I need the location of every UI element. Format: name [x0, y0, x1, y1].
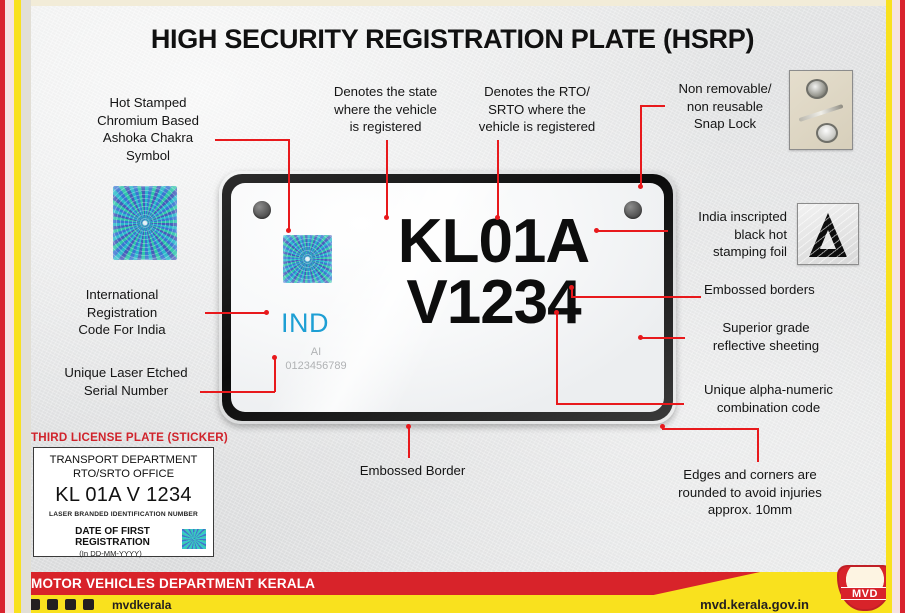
social-handle: mvdkerala — [112, 598, 171, 612]
annotation-hot-stamping-foil: India inscripted black hot stamping foil — [672, 208, 787, 261]
annotation-rounded-edges: Edges and corners are rounded to avoid i… — [650, 466, 850, 519]
frame-left-inner-stripe — [21, 0, 31, 613]
registration-number-line2: V1234 — [351, 272, 636, 333]
ind-country-code: IND — [281, 308, 329, 339]
annotation-international-code: International Registration Code For Indi… — [42, 286, 202, 339]
snap-lock-pin-icon — [799, 104, 844, 122]
leader-line — [757, 428, 759, 462]
third-license-plate-heading: THIRD LICENSE PLATE (STICKER) — [31, 431, 228, 444]
frame-right-pale-stripe — [892, 0, 900, 613]
leader-dot — [384, 215, 389, 220]
leader-dot — [638, 335, 643, 340]
leader-line — [408, 427, 410, 458]
sticker-line-laser-id: LASER BRANDED IDENTIFICATION NUMBER — [34, 511, 213, 518]
laser-serial-line1: AI — [271, 345, 361, 359]
mvd-logo: MVD — [837, 565, 893, 611]
leader-line — [556, 313, 558, 404]
social-icon-group[interactable] — [29, 599, 94, 610]
snap-lock-cap-icon — [816, 123, 838, 143]
youtube-icon[interactable] — [83, 599, 94, 610]
annotation-hot-stamped-chakra: Hot Stamped Chromium Based Ashoka Chakra… — [48, 94, 248, 164]
frame-left-yellow-stripe — [14, 0, 21, 613]
leader-dot — [272, 355, 277, 360]
annotation-state-code: Denotes the state where the vehicle is r… — [313, 83, 458, 136]
leader-line — [596, 230, 668, 232]
annotation-alphanumeric-code: Unique alpha-numeric combination code — [686, 381, 851, 416]
leader-line — [571, 296, 701, 298]
frame-right-red-stripe — [900, 0, 905, 613]
leader-line — [640, 105, 665, 107]
snap-lock-rivet-top-left — [253, 201, 271, 219]
sticker-line-office: RTO/SRTO OFFICE — [34, 467, 213, 481]
third-license-plate-sticker: TRANSPORT DEPARTMENT RTO/SRTO OFFICE KL … — [33, 447, 214, 557]
footer-department-label: MOTOR VEHICLES DEPARTMENT KERALA — [31, 576, 315, 591]
leader-line — [662, 428, 759, 430]
ashoka-chakra-hologram-on-plate — [283, 235, 332, 283]
laser-serial-line2: 0123456789 — [271, 359, 361, 373]
leader-line — [640, 337, 685, 339]
sticker-line-department: TRANSPORT DEPARTMENT — [34, 453, 213, 467]
leader-dot — [495, 215, 500, 220]
annotation-rto-code: Denotes the RTO/ SRTO where the vehicle … — [462, 83, 612, 136]
snap-lock-ring-icon — [806, 79, 828, 99]
leader-line — [288, 139, 290, 231]
footer-social-strip: mvdkerala mvd.kerala.gov.in — [0, 595, 905, 613]
leader-dot — [264, 310, 269, 315]
annotation-embossed-borders: Embossed borders — [704, 281, 864, 299]
footer-bar: MOTOR VEHICLES DEPARTMENT KERALA — [0, 572, 905, 595]
leader-line — [274, 358, 276, 392]
hsrp-infographic-poster: HIGH SECURITY REGISTRATION PLATE (HSRP) … — [0, 0, 905, 613]
snap-lock-photo — [789, 70, 853, 150]
leader-line — [640, 105, 642, 187]
leader-dot — [569, 285, 574, 290]
leader-line — [497, 140, 499, 218]
leader-dot — [554, 310, 559, 315]
twitter-x-icon[interactable] — [47, 599, 58, 610]
leader-dot — [594, 228, 599, 233]
leader-dot — [638, 184, 643, 189]
annotation-laser-serial: Unique Laser Etched Serial Number — [36, 364, 216, 399]
india-hot-stamping-foil-photo — [797, 203, 859, 265]
frame-left-pale-stripe — [5, 0, 14, 613]
ashoka-chakra-hologram-sample — [113, 186, 177, 260]
leader-dot — [286, 228, 291, 233]
sticker-registration-number: KL 01A V 1234 — [34, 484, 213, 507]
sticker-line-date-format: (In DD-MM-YYYY) — [34, 549, 213, 558]
registration-number-line1: KL01A — [351, 211, 636, 272]
annotation-snap-lock: Non removable/ non reusable Snap Lock — [663, 80, 787, 133]
sticker-hologram-icon — [182, 529, 206, 549]
mvd-logo-text: MVD — [841, 587, 889, 600]
leader-dot — [406, 424, 411, 429]
annotation-embossed-border-bottom: Embossed Border — [335, 462, 490, 480]
annotation-reflective-sheeting: Superior grade reflective sheeting — [686, 319, 846, 354]
leader-line — [556, 403, 684, 405]
laser-etched-serial: AI 0123456789 — [271, 345, 361, 373]
instagram-icon[interactable] — [65, 599, 76, 610]
website-url[interactable]: mvd.kerala.gov.in — [700, 597, 809, 612]
leader-line — [205, 312, 267, 314]
india-watermark-texture — [798, 204, 858, 264]
leader-line — [386, 140, 388, 218]
leader-dot — [660, 424, 665, 429]
page-title: HIGH SECURITY REGISTRATION PLATE (HSRP) — [0, 24, 905, 55]
frame-right-yellow-stripe — [886, 0, 892, 613]
frame-top-stripe — [21, 0, 886, 6]
